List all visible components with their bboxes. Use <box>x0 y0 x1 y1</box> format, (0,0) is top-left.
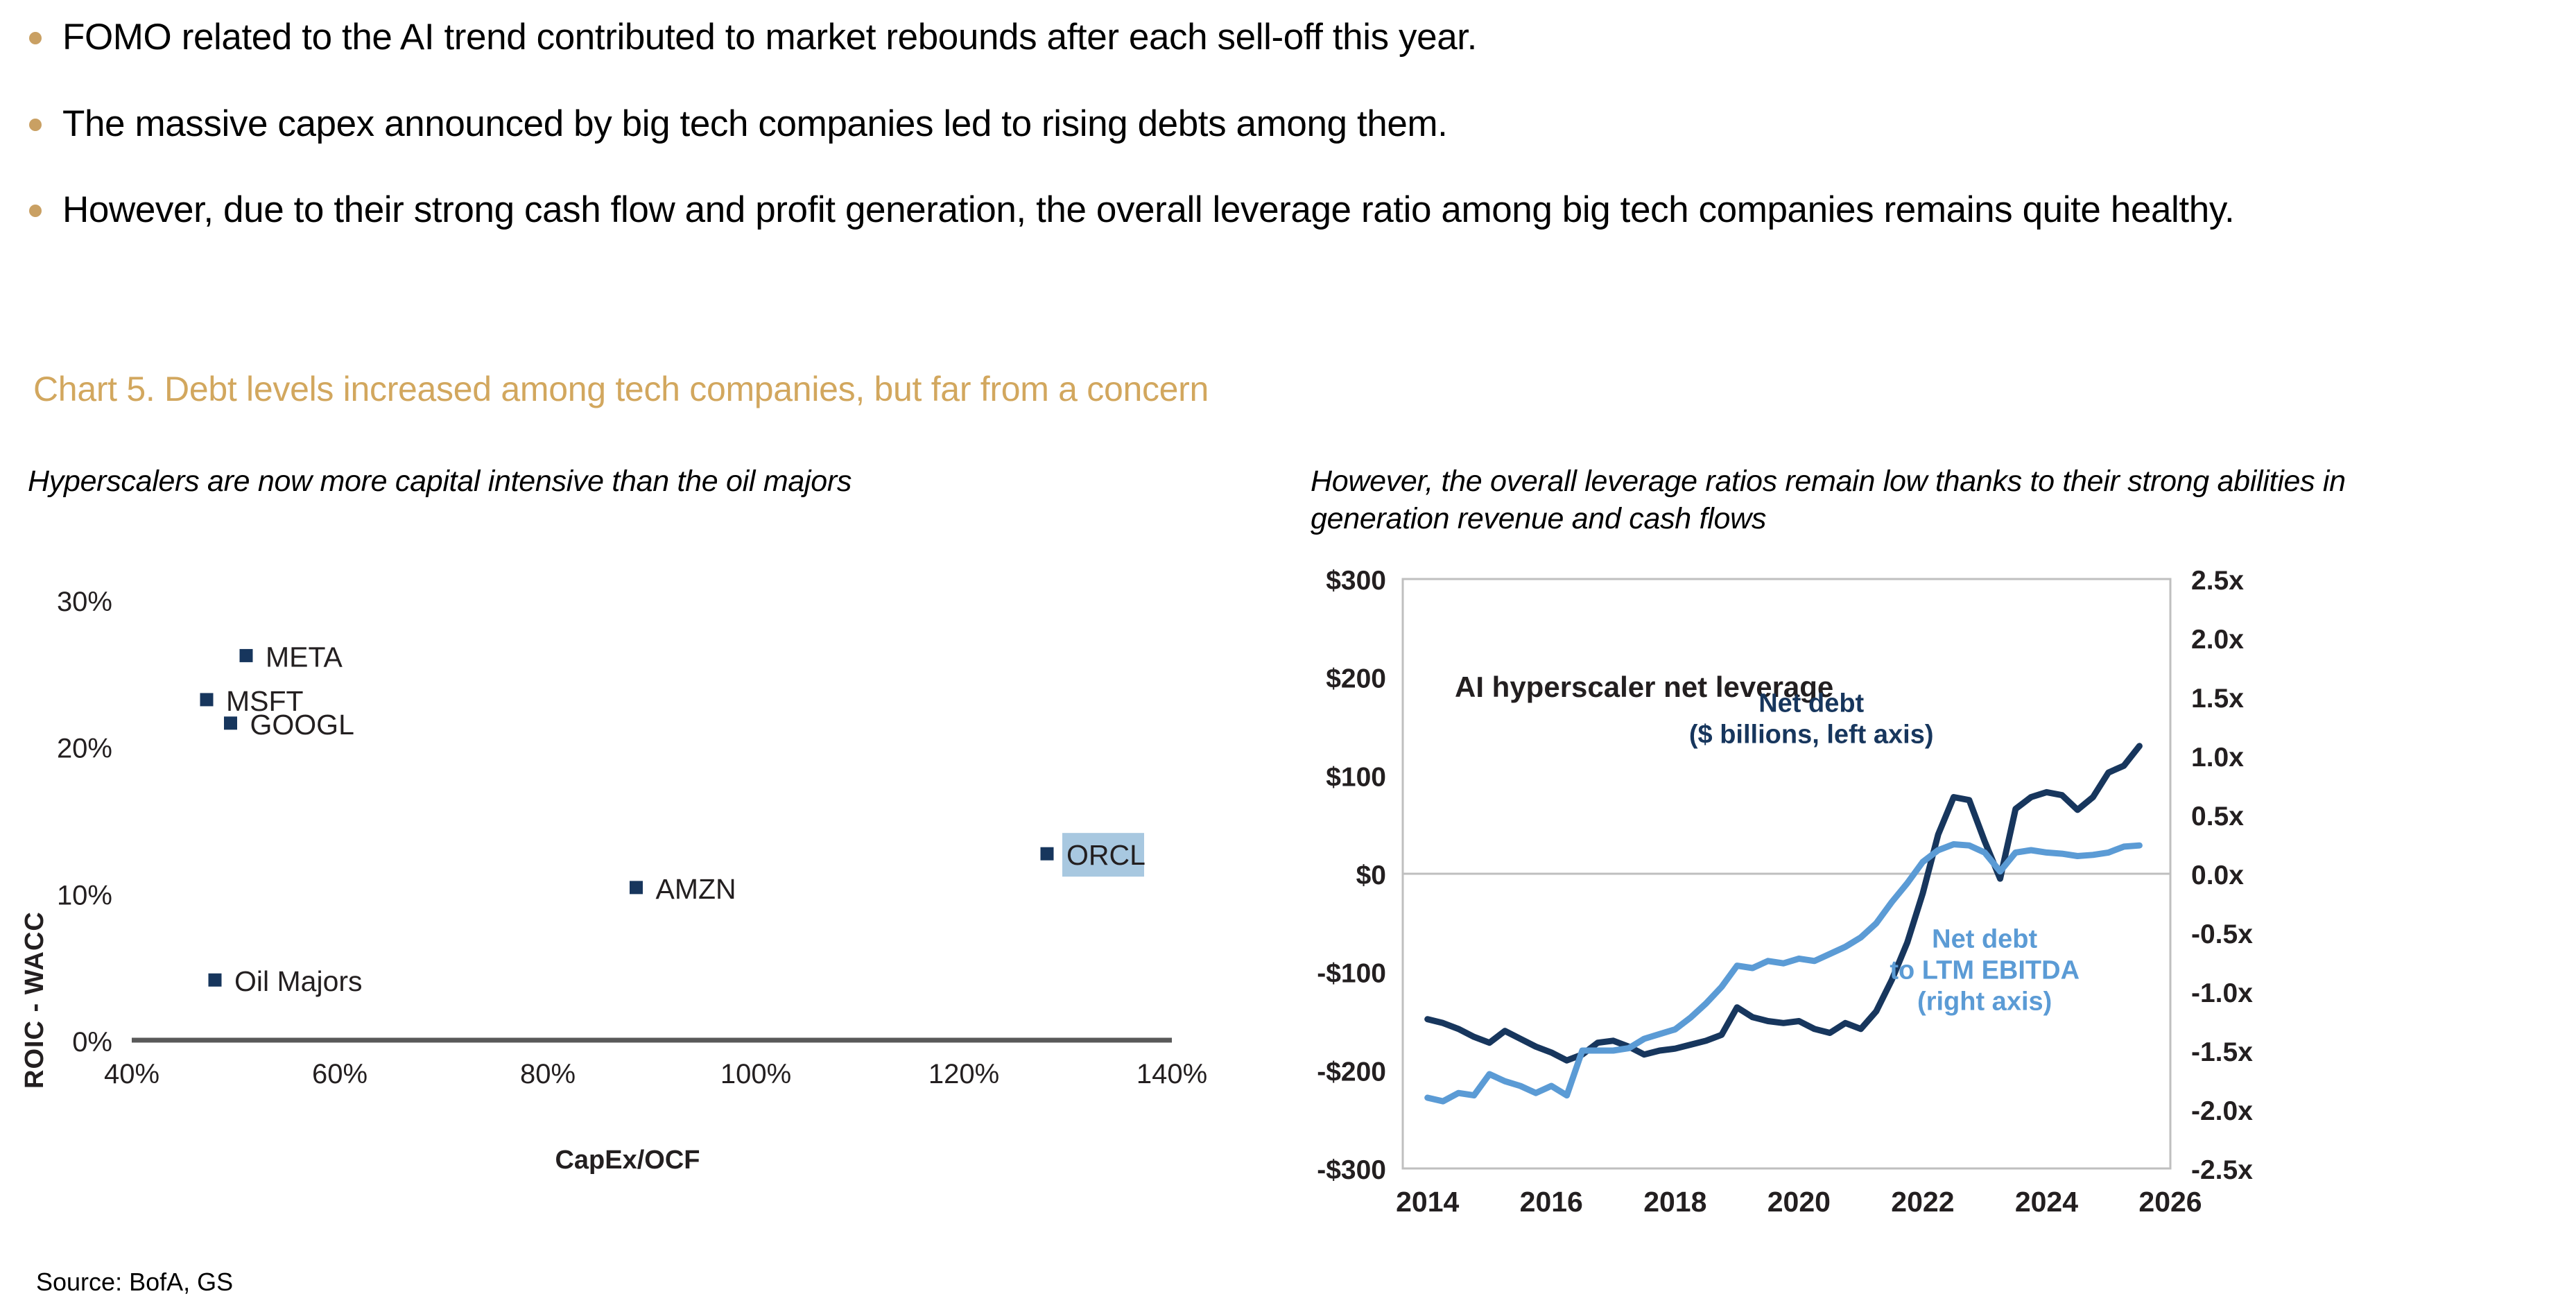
line-left-axis-tick: -$300 <box>1317 1155 1386 1185</box>
list-item: FOMO related to the AI trend contributed… <box>0 15 2545 60</box>
line-left-axis-tick: $100 <box>1326 762 1386 792</box>
line-x-axis-tick: 2018 <box>1643 1186 1706 1218</box>
scatter-point-label: AMZN <box>656 873 736 905</box>
scatter-point[interactable]: ORCL <box>1041 833 1146 877</box>
source-note: Source: BofA, GS <box>36 1268 233 1297</box>
line-right-axis-tick: 0.5x <box>2191 802 2244 831</box>
bullet-dot-icon <box>29 205 42 217</box>
scatter-marker <box>1041 847 1054 861</box>
chart-heading: Chart 5. Debt levels increased among tec… <box>33 369 1209 409</box>
line-annotation-text: Net debt <box>1758 689 1864 718</box>
bullet-text: The massive capex announced by big tech … <box>62 102 2507 147</box>
line-right-axis-tick: 0.0x <box>2191 861 2244 890</box>
line-annotation-text: Net debt <box>1932 924 2037 953</box>
line-left-axis-tick: $200 <box>1326 664 1386 694</box>
line-annotation-text: ($ billions, left axis) <box>1689 720 1934 749</box>
scatter-x-tick: 40% <box>104 1059 159 1089</box>
line-annotation-text: (right axis) <box>1917 987 2052 1016</box>
list-item: The massive capex announced by big tech … <box>0 102 2545 147</box>
scatter-x-tick: 120% <box>928 1059 999 1089</box>
line-right-axis-tick: -1.0x <box>2191 978 2253 1008</box>
scatter-x-tick: 140% <box>1136 1059 1207 1089</box>
scatter-point[interactable]: Oil Majors <box>209 965 363 997</box>
scatter-x-tick: 60% <box>312 1059 368 1089</box>
line-x-axis-tick: 2020 <box>1767 1186 1831 1218</box>
scatter-point[interactable]: AMZN <box>630 873 736 905</box>
scatter-point-label: ORCL <box>1066 839 1146 871</box>
bullet-list: FOMO related to the AI trend contributed… <box>0 0 2545 275</box>
line-annotation-text: to LTM EBITDA <box>1890 956 2080 985</box>
scatter-point-label: META <box>266 641 343 673</box>
scatter-y-tick: 20% <box>57 734 112 764</box>
line-x-axis-tick: 2022 <box>1891 1186 1954 1218</box>
scatter-marker <box>200 693 214 706</box>
scatter-point-label: Oil Majors <box>234 965 363 997</box>
list-item: However, due to their strong cash flow a… <box>0 188 2545 233</box>
scatter-chart: 0%10%20%30% 40%60%80%100%120%140% METAMS… <box>0 576 1220 1186</box>
scatter-y-tick: 30% <box>57 587 112 617</box>
scatter-y-axis-label: ROIC - WACC <box>20 911 49 1089</box>
line-right-axis-tick: 2.5x <box>2191 569 2244 596</box>
line-right-axis-tick: 1.5x <box>2191 684 2244 714</box>
line-right-axis-tick: -1.5x <box>2191 1037 2253 1067</box>
scatter-point-label: GOOGL <box>250 709 354 741</box>
line-left-axis-tick: -$100 <box>1317 959 1386 989</box>
line-right-axis-tick: 2.0x <box>2191 625 2244 655</box>
line-chart: $300$200$100$0-$100-$200-$300 2.5x2.0x1.… <box>1304 569 2573 1262</box>
line-left-axis-tick: $300 <box>1326 569 1386 596</box>
line-right-axis-tick: -0.5x <box>2191 920 2253 949</box>
bullet-dot-icon <box>29 32 42 44</box>
line-left-axis-tick: $0 <box>1356 861 1386 890</box>
scatter-marker <box>209 974 222 987</box>
bullet-text: FOMO related to the AI trend contributed… <box>62 15 2507 60</box>
scatter-x-axis-label: CapEx/OCF <box>555 1146 700 1175</box>
left-panel-caption: Hyperscalers are now more capital intens… <box>28 463 1137 501</box>
line-x-axis-tick: 2014 <box>1396 1186 1459 1218</box>
line-right-axis-tick: -2.5x <box>2191 1155 2253 1185</box>
bullet-text: However, due to their strong cash flow a… <box>62 188 2507 233</box>
scatter-y-tick: 10% <box>57 880 112 910</box>
scatter-y-tick: 0% <box>72 1027 112 1058</box>
line-left-axis-tick: -$200 <box>1317 1057 1386 1087</box>
line-x-axis-tick: 2016 <box>1520 1186 1583 1218</box>
line-right-axis-tick: 1.0x <box>2191 743 2244 772</box>
scatter-x-tick: 100% <box>720 1059 791 1089</box>
scatter-point[interactable]: META <box>240 641 343 673</box>
scatter-marker <box>224 716 237 730</box>
right-panel-caption: However, the overall leverage ratios rem… <box>1311 463 2434 538</box>
bullet-dot-icon <box>29 119 42 131</box>
line-x-axis-tick: 2024 <box>2015 1186 2078 1218</box>
scatter-marker <box>630 881 643 894</box>
line-x-axis-tick: 2026 <box>2138 1186 2202 1218</box>
line-right-axis-tick: -2.0x <box>2191 1096 2253 1126</box>
scatter-x-tick: 80% <box>520 1059 576 1089</box>
scatter-marker <box>240 649 253 662</box>
